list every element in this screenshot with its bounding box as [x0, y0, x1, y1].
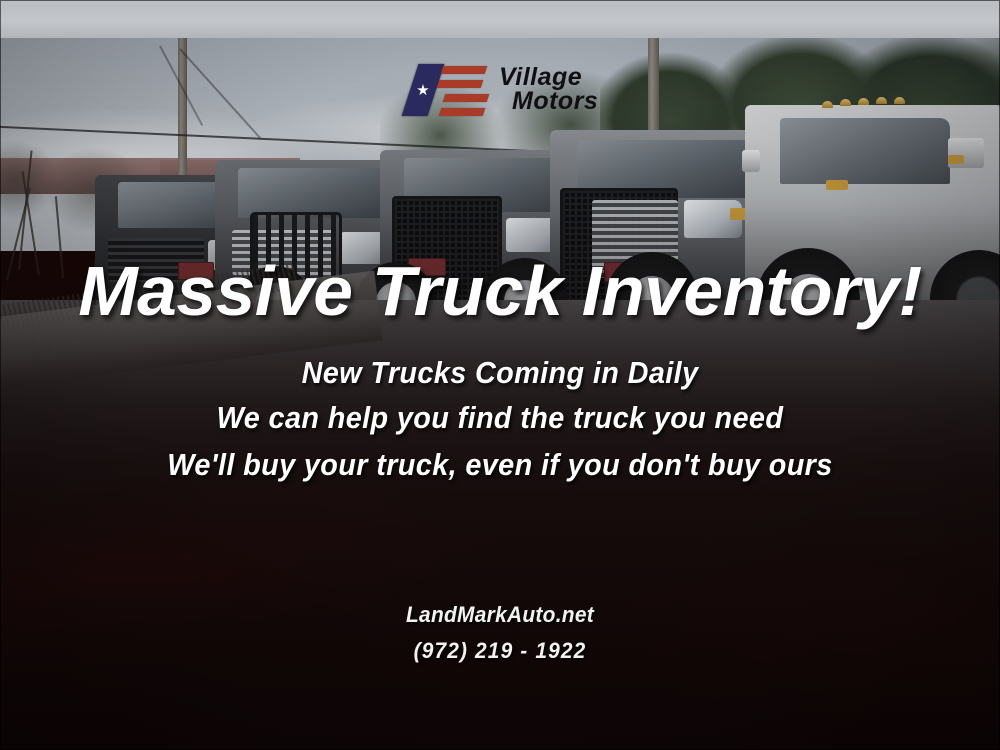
banner-copy: Massive Truck Inventory! New Trucks Comi… [0, 0, 1000, 750]
subheadline-1: New Trucks Coming in Daily [35, 355, 965, 391]
website-link[interactable]: LandMarkAuto.net [25, 602, 975, 628]
subheadline-3: We'll buy your truck, even if you don't … [35, 447, 965, 483]
subheadline-2: We can help you find the truck you need [35, 400, 965, 436]
headline: Massive Truck Inventory! [0, 252, 1000, 330]
phone-number[interactable]: (972) 219 - 1922 [25, 638, 975, 664]
promo-banner: ★ Village Motors Massive Truck Inventory… [0, 0, 1000, 750]
